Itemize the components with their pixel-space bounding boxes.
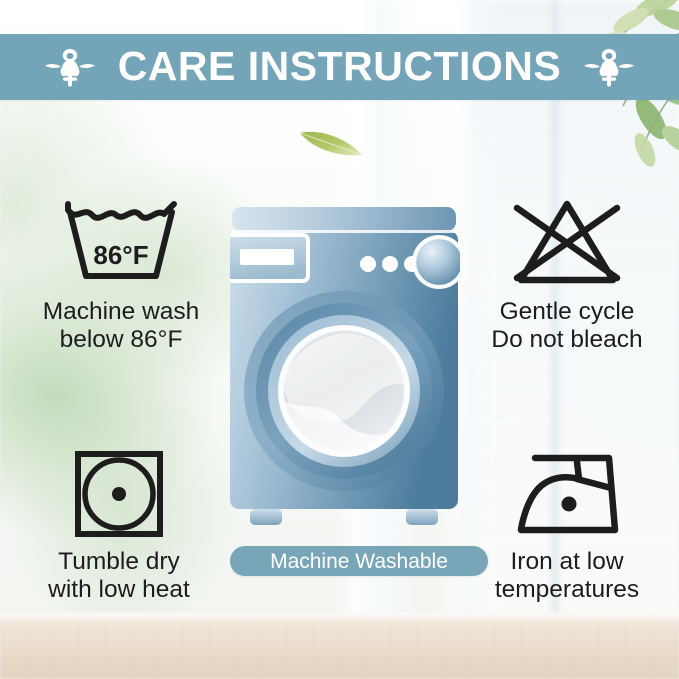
tumble-dry-low-icon-wrapper xyxy=(14,448,224,540)
tumble-dry-low-icon xyxy=(72,448,166,540)
caption-line-2: with low heat xyxy=(14,576,224,604)
caption-line-1: Machine wash xyxy=(14,298,228,326)
machine-washable-badge: Machine Washable xyxy=(230,546,488,576)
caption-line-2: Do not bleach xyxy=(464,326,670,354)
caption-line-1: Iron at low xyxy=(464,548,670,576)
wash-tub-icon-wrapper: 86°F xyxy=(14,196,228,288)
caption-line-2: below 86°F xyxy=(14,326,228,354)
fleur-de-lis-icon xyxy=(44,45,96,89)
care-symbol-tumble-dry: Tumble dry with low heat xyxy=(14,448,224,605)
care-symbol-caption: Gentle cycle Do not bleach xyxy=(464,298,670,355)
washing-machine-icon xyxy=(228,205,460,535)
care-symbol-caption: Iron at low temperatures xyxy=(464,548,670,605)
caption-line-1: Tumble dry xyxy=(14,548,224,576)
page-title: CARE INSTRUCTIONS xyxy=(118,46,562,87)
iron-low-icon xyxy=(509,448,625,540)
care-symbol-do-not-bleach: Gentle cycle Do not bleach xyxy=(464,196,670,355)
triangle-crossed-out-icon-wrapper xyxy=(464,196,670,288)
caption-line-2: temperatures xyxy=(464,576,670,604)
triangle-crossed-out-icon xyxy=(509,196,625,288)
header-banner: CARE INSTRUCTIONS xyxy=(0,34,679,100)
wooden-table-surface xyxy=(0,613,679,679)
iron-low-icon-wrapper xyxy=(464,448,670,540)
care-instructions-infographic: CARE INSTRUCTIONS xyxy=(0,0,679,679)
wash-temperature-value: 86°F xyxy=(59,240,183,271)
fleur-de-lis-icon xyxy=(583,45,635,89)
leaf-icon xyxy=(296,126,366,160)
care-symbol-caption: Machine wash below 86°F xyxy=(14,298,228,355)
badge-label: Machine Washable xyxy=(270,551,448,572)
care-symbol-caption: Tumble dry with low heat xyxy=(14,548,224,605)
care-symbol-machine-wash: 86°F Machine wash below 86°F xyxy=(14,196,228,355)
caption-line-1: Gentle cycle xyxy=(464,298,670,326)
care-symbol-iron: Iron at low temperatures xyxy=(464,448,670,605)
